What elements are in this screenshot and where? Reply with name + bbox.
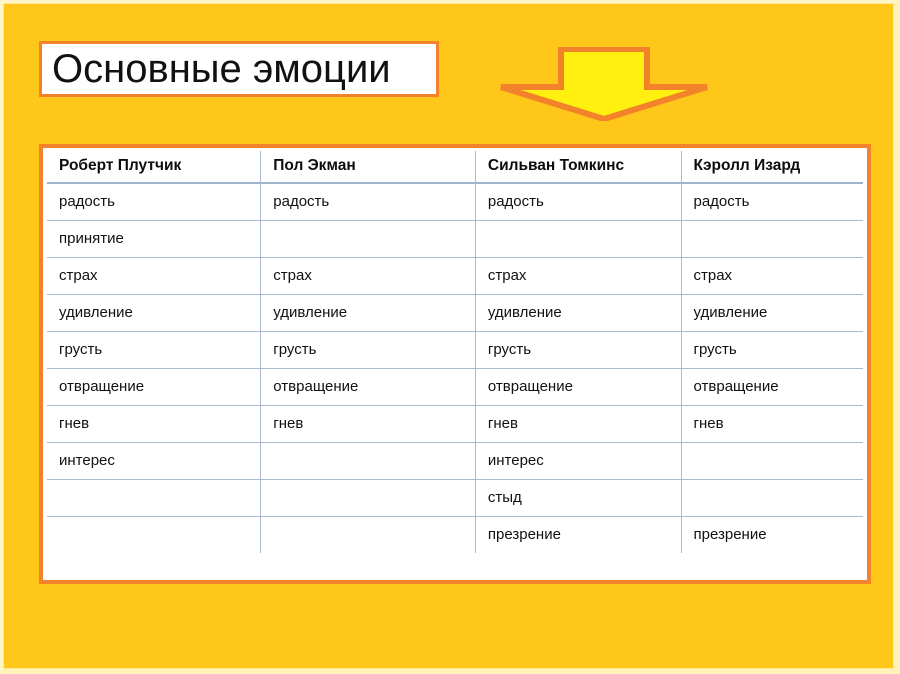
table-row: радость радость радость радость	[47, 183, 863, 220]
table-cell: принятие	[47, 220, 261, 257]
table-cell: интерес	[47, 442, 261, 479]
table-row: отвращение отвращение отвращение отвраще…	[47, 368, 863, 405]
table-cell: стыд	[475, 479, 681, 516]
table-cell	[261, 220, 476, 257]
table-cell: презрение	[475, 516, 681, 553]
table-cell: радость	[261, 183, 476, 220]
table-cell	[47, 479, 261, 516]
table-cell	[681, 220, 863, 257]
table-cell: отвращение	[475, 368, 681, 405]
table-cell	[681, 479, 863, 516]
table-cell: гнев	[47, 405, 261, 442]
table-cell: радость	[681, 183, 863, 220]
table-cell: страх	[47, 257, 261, 294]
column-header-plutchik: Роберт Плутчик	[47, 151, 261, 183]
table-cell: гнев	[681, 405, 863, 442]
table-cell: гнев	[475, 405, 681, 442]
table-cell: грусть	[47, 331, 261, 368]
table-cell: интерес	[475, 442, 681, 479]
column-header-tomkins: Сильван Томкинс	[475, 151, 681, 183]
table-row: интерес интерес	[47, 442, 863, 479]
down-arrow-icon	[497, 47, 711, 121]
table-cell: страх	[681, 257, 863, 294]
table-cell: отвращение	[261, 368, 476, 405]
title-box: Основные эмоции	[39, 41, 439, 97]
emotions-table-container: Роберт Плутчик Пол Экман Сильван Томкинс…	[39, 144, 871, 584]
table-cell: страх	[475, 257, 681, 294]
table-cell: грусть	[475, 331, 681, 368]
table-cell	[261, 442, 476, 479]
table-row: страх страх страх страх	[47, 257, 863, 294]
table-cell: отвращение	[47, 368, 261, 405]
table-row: принятие	[47, 220, 863, 257]
table-cell	[681, 442, 863, 479]
table-row: удивление удивление удивление удивление	[47, 294, 863, 331]
table-cell	[261, 479, 476, 516]
page-title: Основные эмоции	[42, 49, 391, 89]
table-cell: грусть	[261, 331, 476, 368]
column-header-izard: Кэролл Изард	[681, 151, 863, 183]
table-cell: отвращение	[681, 368, 863, 405]
table-cell: удивление	[681, 294, 863, 331]
table-row: грусть грусть грусть грусть	[47, 331, 863, 368]
table-cell: грусть	[681, 331, 863, 368]
table-row: презрение презрение	[47, 516, 863, 553]
table-cell: презрение	[681, 516, 863, 553]
table-cell: удивление	[47, 294, 261, 331]
column-header-ekman: Пол Экман	[261, 151, 476, 183]
emotions-table: Роберт Плутчик Пол Экман Сильван Томкинс…	[47, 151, 863, 553]
table-cell	[475, 220, 681, 257]
table-cell: страх	[261, 257, 476, 294]
table-cell: радость	[475, 183, 681, 220]
slide-canvas: Основные эмоции Роберт Плутчик Пол Экман…	[0, 0, 900, 674]
table-cell: удивление	[261, 294, 476, 331]
table-cell	[261, 516, 476, 553]
table-cell: гнев	[261, 405, 476, 442]
table-row: гнев гнев гнев гнев	[47, 405, 863, 442]
table-cell: радость	[47, 183, 261, 220]
table-cell: удивление	[475, 294, 681, 331]
table-header-row: Роберт Плутчик Пол Экман Сильван Томкинс…	[47, 151, 863, 183]
table-row: стыд	[47, 479, 863, 516]
table-cell	[47, 516, 261, 553]
